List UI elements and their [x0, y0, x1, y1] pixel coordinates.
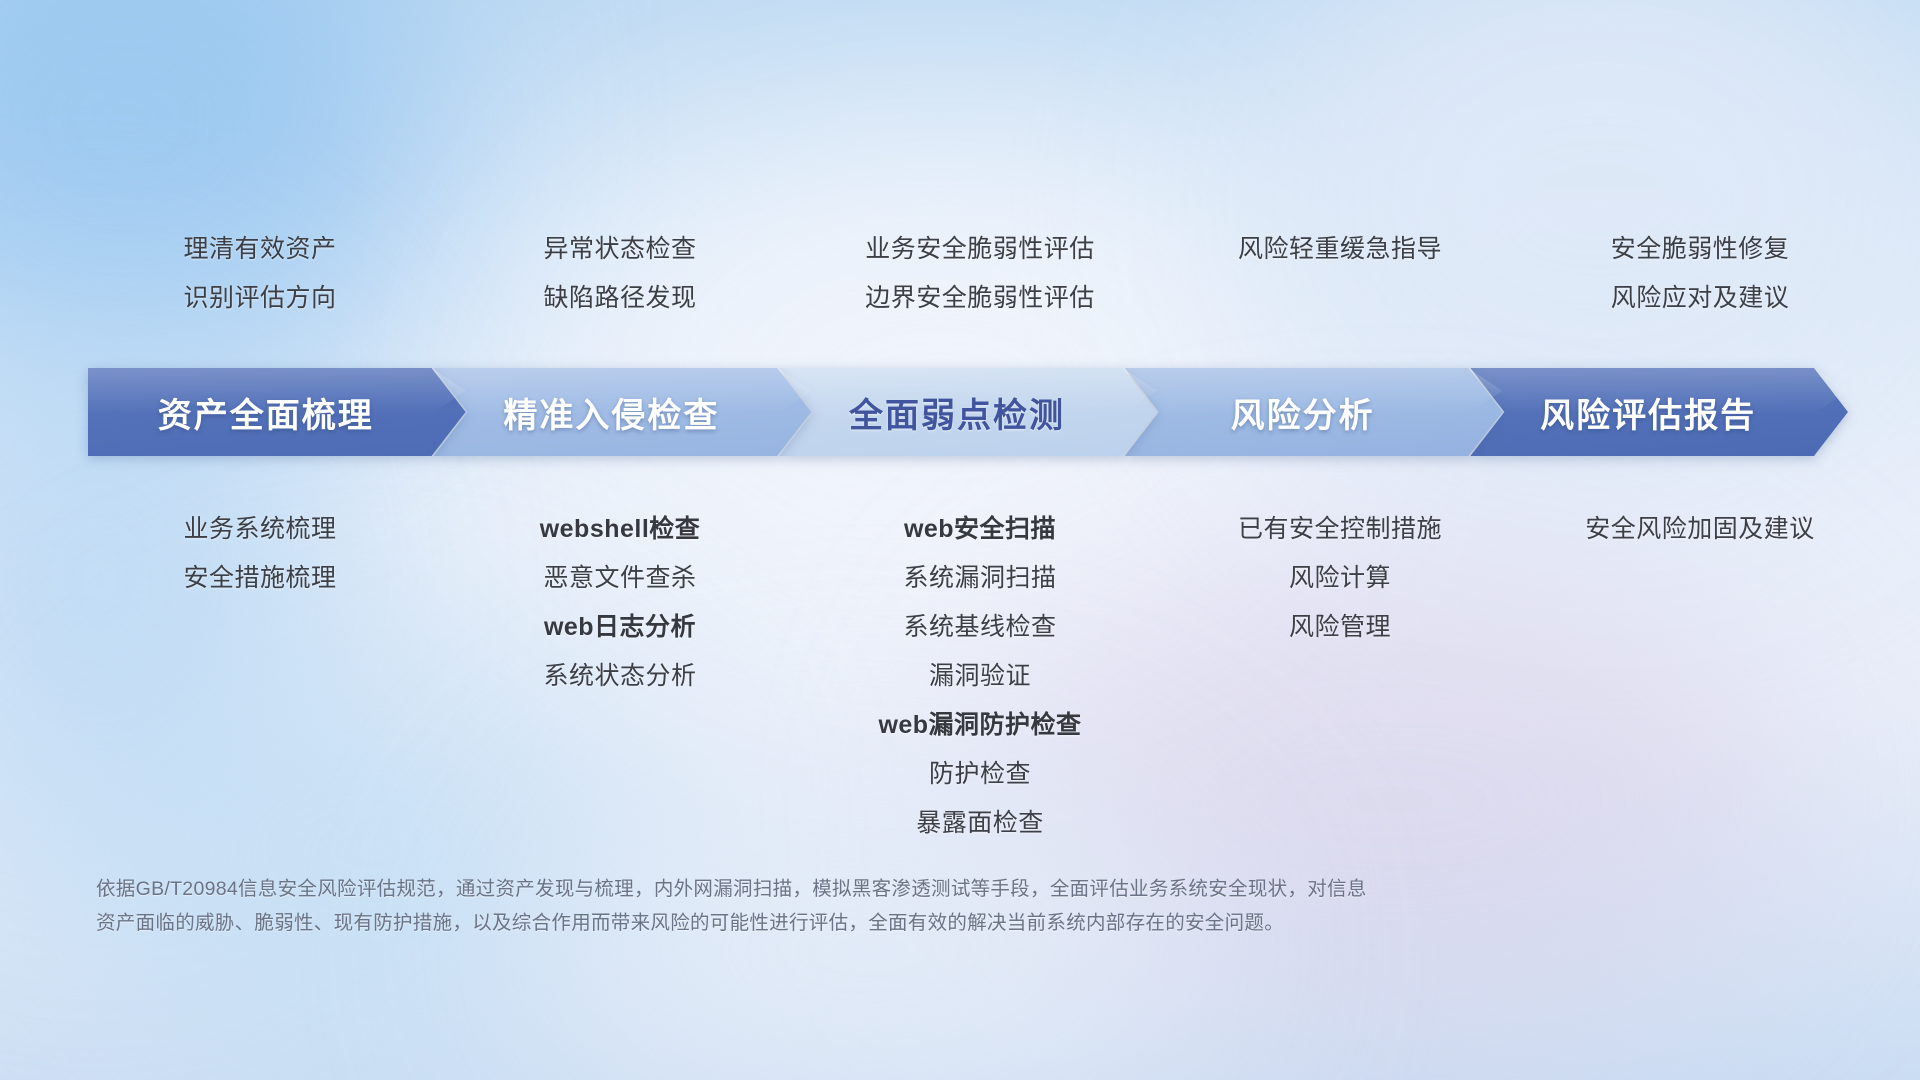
top-column-3: 业务安全脆弱性评估边界安全脆弱性评估 [800, 225, 1160, 323]
bottom-item: web漏洞防护检查 [800, 701, 1160, 750]
bottom-item: 已有安全控制措施 [1160, 505, 1520, 554]
bottom-column-3: web安全扫描系统漏洞扫描系统基线检查漏洞验证web漏洞防护检查防护检查暴露面检… [800, 505, 1160, 848]
bottom-item: 恶意文件查杀 [440, 554, 800, 603]
stage-arrow-1[interactable]: 资产全面梳理 [88, 368, 466, 456]
top-column-2: 异常状态检查缺陷路径发现 [440, 225, 800, 323]
top-item: 风险应对及建议 [1520, 274, 1880, 323]
top-item: 缺陷路径发现 [440, 274, 800, 323]
top-item: 边界安全脆弱性评估 [800, 274, 1160, 323]
stage-arrow-5[interactable]: 风险评估报告 [1470, 368, 1848, 456]
bottom-column-1: 业务系统梳理安全措施梳理 [80, 505, 440, 848]
bottom-item: 暴露面检查 [800, 799, 1160, 848]
top-column-1: 理清有效资产识别评估方向 [80, 225, 440, 323]
bottom-item: web日志分析 [440, 603, 800, 652]
bottom-item: 系统漏洞扫描 [800, 554, 1160, 603]
top-item: 异常状态检查 [440, 225, 800, 274]
top-item: 风险轻重缓急指导 [1160, 225, 1520, 274]
top-column-5: 安全脆弱性修复风险应对及建议 [1520, 225, 1880, 323]
bottom-item: 业务系统梳理 [80, 505, 440, 554]
bottom-column-2: webshell检查恶意文件查杀web日志分析系统状态分析 [440, 505, 800, 848]
top-item: 理清有效资产 [80, 225, 440, 274]
bottom-item: 系统状态分析 [440, 652, 800, 701]
bottom-item: 系统基线检查 [800, 603, 1160, 652]
caption-line-1: 依据GB/T20984信息安全风险评估规范，通过资产发现与梳理，内外网漏洞扫描，… [96, 872, 1656, 906]
stage-arrow-label: 风险评估报告 [1540, 388, 1756, 437]
top-column-4: 风险轻重缓急指导 [1160, 225, 1520, 323]
caption-block: 依据GB/T20984信息安全风险评估规范，通过资产发现与梳理，内外网漏洞扫描，… [96, 872, 1656, 940]
stage-arrow-3[interactable]: 全面弱点检测 [779, 368, 1157, 456]
top-description-row: 理清有效资产识别评估方向异常状态检查缺陷路径发现业务安全脆弱性评估边界安全脆弱性… [80, 225, 1880, 323]
bottom-item: 风险计算 [1160, 554, 1520, 603]
stage-arrow-label: 全面弱点检测 [849, 388, 1065, 437]
bottom-item: 漏洞验证 [800, 652, 1160, 701]
bottom-item: 防护检查 [800, 750, 1160, 799]
bottom-item: webshell检查 [440, 505, 800, 554]
bottom-column-5: 安全风险加固及建议 [1520, 505, 1880, 848]
bottom-item: 安全措施梳理 [80, 554, 440, 603]
bottom-detail-row: 业务系统梳理安全措施梳理webshell检查恶意文件查杀web日志分析系统状态分… [80, 505, 1880, 848]
stage-arrow-banner: 资产全面梳理精准入侵检查全面弱点检测风险分析风险评估报告 [88, 368, 1848, 456]
process-diagram: 理清有效资产识别评估方向异常状态检查缺陷路径发现业务安全脆弱性评估边界安全脆弱性… [0, 0, 1920, 1080]
caption-line-2: 资产面临的威胁、脆弱性、现有防护措施，以及综合作用而带来风险的可能性进行评估，全… [96, 906, 1656, 940]
stage-arrow-2[interactable]: 精准入侵检查 [434, 368, 812, 456]
top-item: 安全脆弱性修复 [1520, 225, 1880, 274]
bottom-item: 安全风险加固及建议 [1520, 505, 1880, 554]
top-item: 业务安全脆弱性评估 [800, 225, 1160, 274]
top-item: 识别评估方向 [80, 274, 440, 323]
stage-arrow-label: 精准入侵检查 [503, 388, 719, 437]
bottom-item: web安全扫描 [800, 505, 1160, 554]
stage-arrow-label: 资产全面梳理 [158, 388, 374, 437]
bottom-item: 风险管理 [1160, 603, 1520, 652]
bottom-column-4: 已有安全控制措施风险计算风险管理 [1160, 505, 1520, 848]
stage-arrow-4[interactable]: 风险分析 [1125, 368, 1503, 456]
stage-arrow-label: 风险分析 [1231, 388, 1375, 437]
